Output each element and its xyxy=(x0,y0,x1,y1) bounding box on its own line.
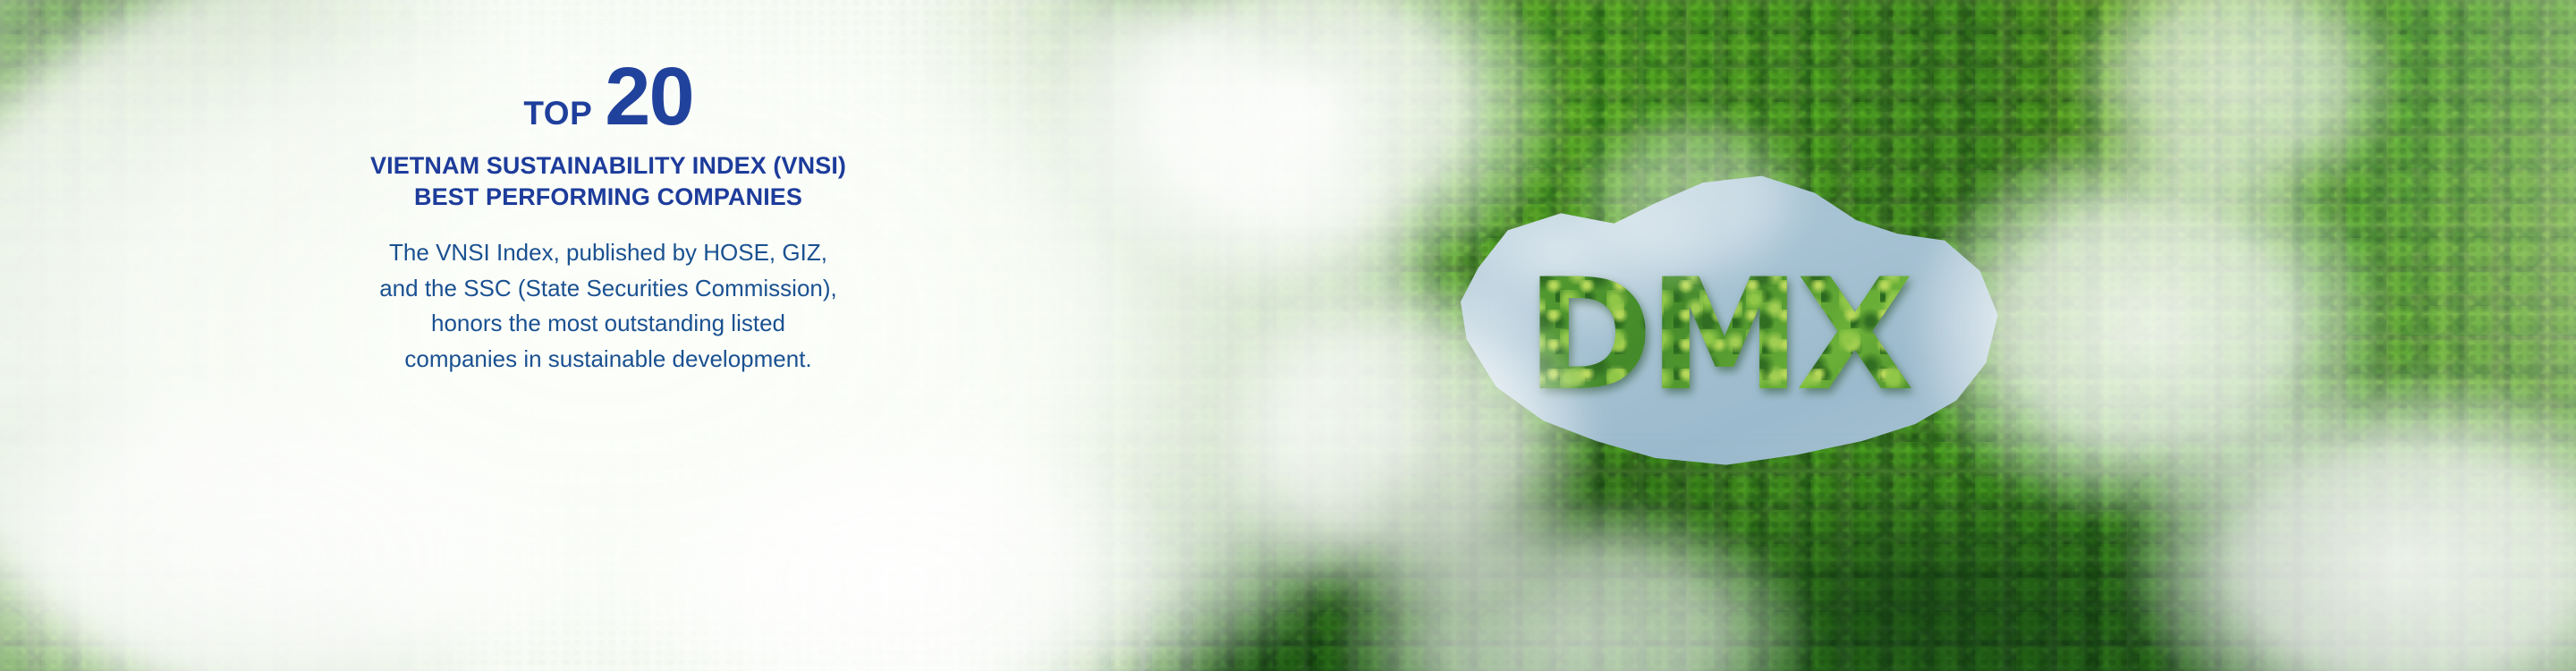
award-description: The VNSI Index, published by HOSE, GIZ, … xyxy=(376,235,841,377)
vnsi-top20-banner: DMX TOP 20 VIETNAM SUSTAINABILITY INDEX … xyxy=(0,0,2576,671)
rank-number: 20 xyxy=(605,55,692,138)
award-headline: VIETNAM SUSTAINABILITY INDEX (VNSI) BEST… xyxy=(358,150,859,212)
dmx-foliage-logo: DMX xyxy=(1467,251,1968,420)
lake-region: DMX xyxy=(1431,152,2021,492)
top-kicker-label: TOP xyxy=(523,97,592,130)
award-content: TOP 20 VIETNAM SUSTAINABILITY INDEX (VNS… xyxy=(268,0,948,671)
top-rank-lockup: TOP 20 xyxy=(523,55,692,138)
